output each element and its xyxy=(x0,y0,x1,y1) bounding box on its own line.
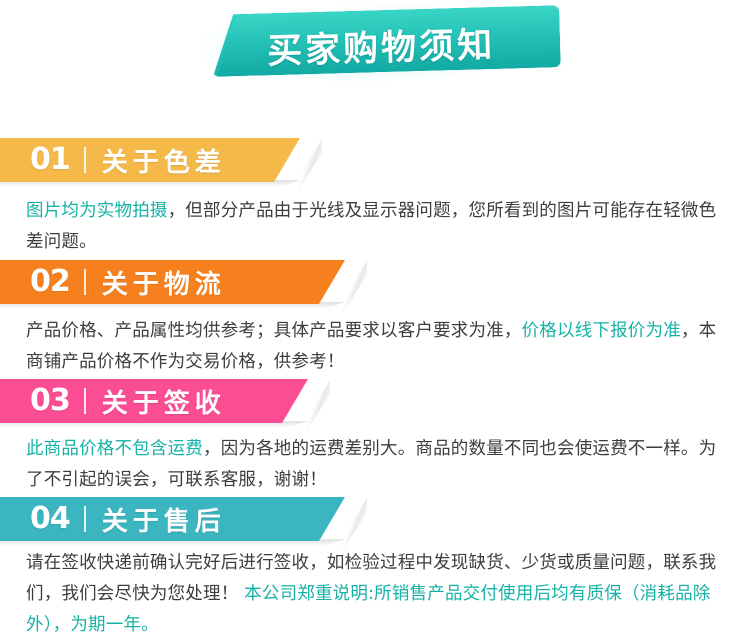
section-ribbon-01: 01关于色差 xyxy=(0,138,750,182)
section-02: 02关于物流 xyxy=(0,260,750,304)
ribbon-fold-icon xyxy=(343,498,367,550)
ribbon-content: 03关于签收 xyxy=(30,379,226,423)
section-number: 03 xyxy=(30,386,84,416)
ribbon-divider xyxy=(84,388,86,414)
section-paragraph-02: 产品价格、产品属性均供参考；具体产品要求以客户要求为准，价格以线下报价为准，本商… xyxy=(26,316,732,378)
ribbon-fold-icon xyxy=(306,380,330,432)
section-03: 03关于签收 xyxy=(0,379,750,423)
paragraph-run: 产品价格、产品属性均供参考；具体产品要求以客户要求为准， xyxy=(26,321,522,341)
section-ribbon-02: 02关于物流 xyxy=(0,260,750,304)
ribbon-divider xyxy=(84,147,86,173)
ribbon-content: 04关于售后 xyxy=(30,497,226,541)
ribbon-fold-icon xyxy=(298,139,322,191)
section-paragraph-03: 此商品价格不包含运费，因为各地的运费差别大。商品的数量不同也会使运费不一样。为了… xyxy=(26,434,732,496)
paragraph-highlight-run: 图片均为实物拍摄 xyxy=(26,201,168,221)
section-ribbon-04: 04关于售后 xyxy=(0,497,750,541)
ribbon-divider xyxy=(84,269,86,295)
ribbon-fold-icon xyxy=(343,261,367,313)
section-label: 关于售后 xyxy=(102,501,226,538)
paragraph-highlight-run: 此商品价格不包含运费 xyxy=(26,439,203,459)
section-ribbon-03: 03关于签收 xyxy=(0,379,750,423)
section-label: 关于物流 xyxy=(102,264,226,301)
section-label: 关于色差 xyxy=(102,142,226,179)
section-number: 01 xyxy=(30,145,84,175)
section-paragraph-01: 图片均为实物拍摄，但部分产品由于光线及显示器问题，您所看到的图片可能存在轻微色差… xyxy=(26,196,732,258)
ribbon-divider xyxy=(84,506,86,532)
section-04: 04关于售后 xyxy=(0,497,750,541)
section-01: 01关于色差 xyxy=(0,138,750,182)
paragraph-highlight-run: 价格以线下报价为准 xyxy=(522,321,681,341)
ribbon-content: 01关于色差 xyxy=(30,138,226,182)
ribbon-content: 02关于物流 xyxy=(30,260,226,304)
section-number: 04 xyxy=(30,504,84,534)
header-banner-area: 买家购物须知 xyxy=(0,0,750,110)
section-label: 关于签收 xyxy=(102,383,226,420)
page-title: 买家购物须知 xyxy=(5,0,750,96)
section-number: 02 xyxy=(30,267,84,297)
section-paragraph-04: 请在签收快递前确认完好后进行签收，如检验过程中发现缺货、少货或质量问题，联系我们… xyxy=(26,548,732,641)
